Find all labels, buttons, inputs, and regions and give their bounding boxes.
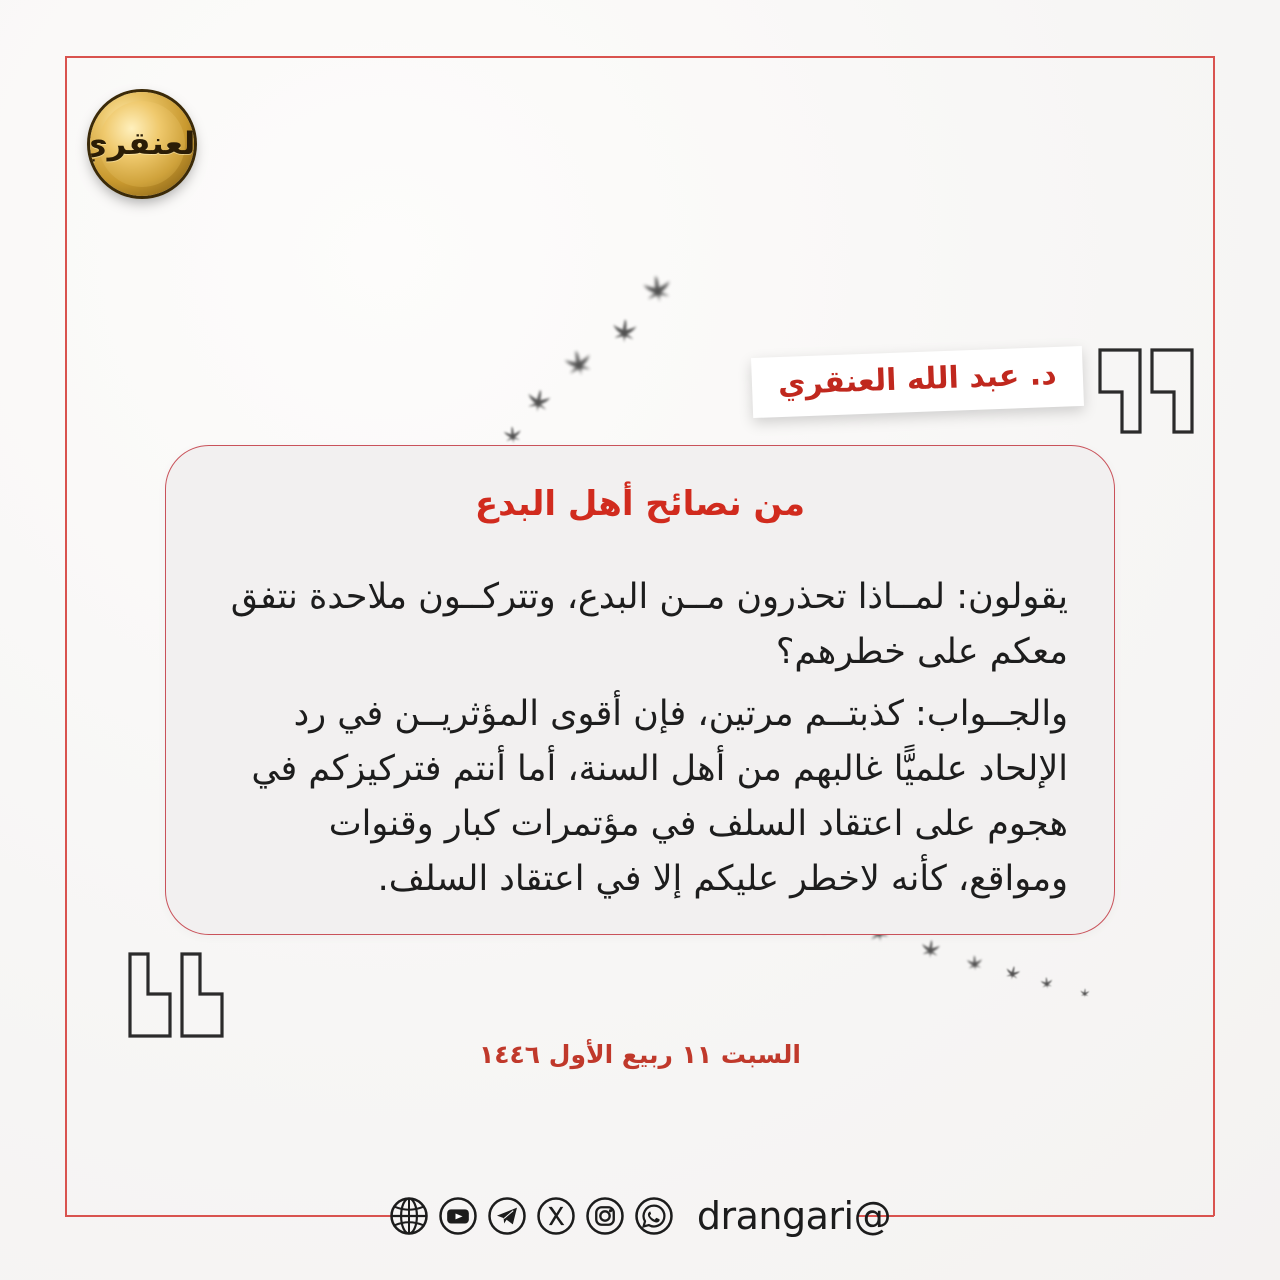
social-handle[interactable]: drangari@ bbox=[697, 1194, 891, 1238]
bird-icon bbox=[640, 273, 676, 305]
logo-calligraphy: العنقري bbox=[90, 129, 194, 160]
whatsapp-icon[interactable] bbox=[634, 1196, 674, 1236]
globe-icon[interactable] bbox=[389, 1196, 429, 1236]
frame-border-top bbox=[65, 56, 1215, 58]
bird-icon bbox=[561, 347, 597, 379]
x-twitter-icon[interactable] bbox=[536, 1196, 576, 1236]
quote-paragraph: والجــواب: كذبتــم مرتين، فإن أقوى المؤث… bbox=[212, 687, 1068, 908]
bird-icon bbox=[610, 318, 640, 344]
logo-inner-disc: العنقري bbox=[99, 101, 185, 187]
brand-logo-medallion: العنقري bbox=[90, 92, 194, 196]
bird-icon bbox=[502, 425, 524, 444]
bird-icon bbox=[524, 387, 555, 414]
quote-title: من نصائح أهل البدع bbox=[212, 484, 1068, 524]
hijri-date: السبت ١١ ربيع الأول ١٤٤٦ bbox=[0, 1040, 1280, 1069]
poster-canvas: العنقري bbox=[0, 0, 1280, 1280]
author-name-text: د. عبد الله العنقري bbox=[777, 358, 1057, 403]
quote-card: من نصائح أهل البدع يقولون: لمــاذا تحذرو… bbox=[165, 445, 1115, 935]
bird-icon bbox=[1079, 988, 1090, 998]
author-name-label: د. عبد الله العنقري bbox=[751, 346, 1084, 418]
social-footer: drangari@ bbox=[0, 1194, 1280, 1238]
instagram-icon[interactable] bbox=[585, 1196, 625, 1236]
bird-icon bbox=[1039, 976, 1054, 990]
closing-quote-icon bbox=[1098, 348, 1194, 438]
bird-icon bbox=[965, 955, 985, 972]
bird-icon bbox=[919, 939, 943, 960]
quote-body: يقولون: لمــاذا تحذرون مــن البدع، وتترك… bbox=[212, 570, 1068, 908]
telegram-icon[interactable] bbox=[487, 1196, 527, 1236]
bird-icon bbox=[1003, 964, 1023, 982]
opening-quote-icon bbox=[128, 952, 224, 1042]
quote-paragraph: يقولون: لمــاذا تحذرون مــن البدع، وتترك… bbox=[212, 570, 1068, 681]
youtube-icon[interactable] bbox=[438, 1196, 478, 1236]
